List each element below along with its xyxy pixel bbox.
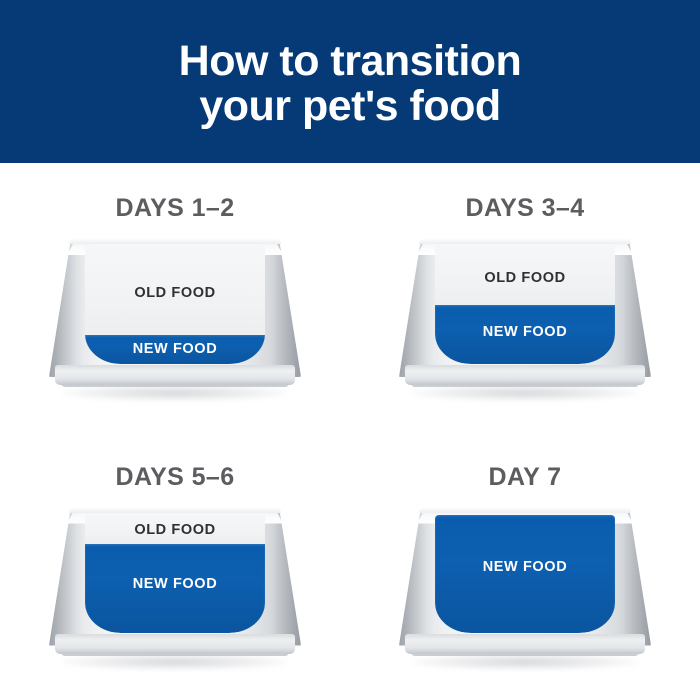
food-bowl-days-1-2: OLD FOOD NEW FOOD	[49, 237, 301, 397]
bowl-base	[55, 365, 295, 385]
new-food-portion: NEW FOOD	[85, 544, 265, 633]
old-food-portion: OLD FOOD	[85, 515, 265, 545]
step-title-days-1-2: DAYS 1–2	[115, 194, 234, 223]
steps-grid: DAYS 1–2 OLD FOOD NEW FOOD	[0, 163, 700, 700]
bowl-rim-edge	[69, 507, 281, 513]
step-card-days-5-6: DAYS 5–6 OLD FOOD NEW FOOD	[0, 432, 350, 700]
new-food-label: NEW FOOD	[435, 324, 615, 340]
bowl-rim-edge	[419, 238, 631, 244]
new-food-label: NEW FOOD	[85, 341, 265, 357]
bowl-shadow	[63, 654, 287, 670]
food-bowl-days-3-4: OLD FOOD NEW FOOD	[399, 237, 651, 397]
bowl-shadow	[413, 654, 637, 670]
food-bowl-days-5-6: OLD FOOD NEW FOOD	[49, 506, 301, 666]
old-food-label: OLD FOOD	[85, 522, 265, 538]
bowl-shadow	[63, 385, 287, 401]
old-food-label: OLD FOOD	[435, 270, 615, 286]
bowl-interior: OLD FOOD NEW FOOD	[85, 246, 265, 364]
old-food-label: OLD FOOD	[85, 285, 265, 301]
bowl-base	[405, 634, 645, 654]
new-food-portion: NEW FOOD	[85, 335, 265, 365]
bowl-base	[55, 634, 295, 654]
bowl-interior: OLD FOOD NEW FOOD	[85, 515, 265, 633]
bowl-shadow	[413, 385, 637, 401]
bowl-base	[405, 365, 645, 385]
step-card-day-7: DAY 7 OLD FOOD NEW FOOD	[350, 432, 700, 700]
page-title: How to transition your pet's food	[179, 35, 522, 128]
step-title-days-5-6: DAYS 5–6	[115, 463, 234, 492]
bowl-rim-edge	[419, 507, 631, 513]
infographic-page: How to transition your pet's food DAYS 1…	[0, 0, 700, 700]
bowl-rim-edge	[69, 238, 281, 244]
food-bowl-day-7: OLD FOOD NEW FOOD	[399, 506, 651, 666]
step-title-day-7: DAY 7	[489, 463, 562, 492]
bowl-interior: OLD FOOD NEW FOOD	[435, 515, 615, 633]
step-title-days-3-4: DAYS 3–4	[465, 194, 584, 223]
step-card-days-1-2: DAYS 1–2 OLD FOOD NEW FOOD	[0, 163, 350, 432]
header-banner: How to transition your pet's food	[0, 0, 700, 163]
step-card-days-3-4: DAYS 3–4 OLD FOOD NEW FOOD	[350, 163, 700, 432]
new-food-portion: NEW FOOD	[435, 305, 615, 364]
bowl-interior: OLD FOOD NEW FOOD	[435, 246, 615, 364]
new-food-label: NEW FOOD	[85, 576, 265, 592]
old-food-portion: OLD FOOD	[435, 246, 615, 305]
new-food-label: NEW FOOD	[435, 559, 615, 575]
old-food-portion: OLD FOOD	[85, 246, 265, 335]
new-food-portion: NEW FOOD	[435, 515, 615, 633]
